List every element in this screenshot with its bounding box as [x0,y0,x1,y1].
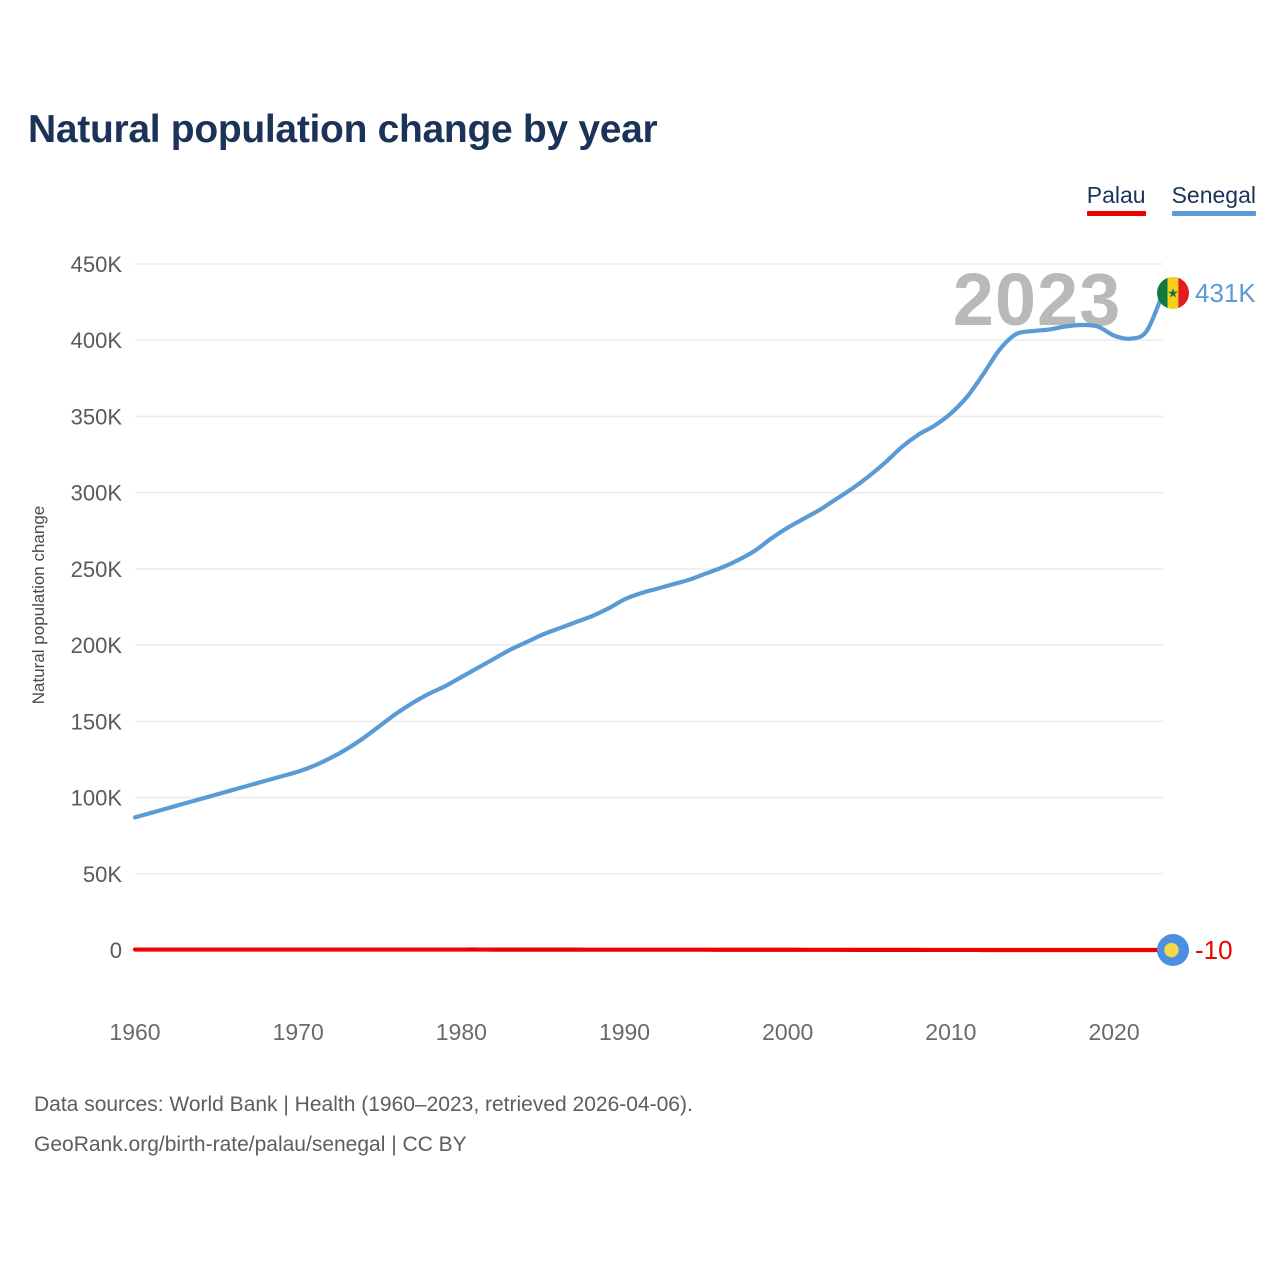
star-icon: ★ [1167,285,1179,300]
y-tick-label: 300K [71,481,123,506]
gridlines [135,264,1163,874]
y-tick-label: 450K [71,252,123,277]
x-axis-tick-labels: 1960197019801990200020102020 [109,1019,1139,1045]
x-tick-label: 2010 [925,1019,976,1045]
x-tick-label: 2000 [762,1019,813,1045]
footer-line-2[interactable]: GeoRank.org/birth-rate/palau/senegal | C… [34,1125,693,1165]
y-axis-tick-labels: 050K100K150K200K250K300K350K400K450K [71,252,123,963]
y-tick-label: 250K [71,557,123,582]
y-tick-label: 100K [71,786,123,811]
y-tick-label: 0 [110,938,122,963]
x-tick-label: 1960 [109,1019,160,1045]
senegal-flag-icon[interactable]: ★ [1157,277,1189,309]
moon-icon [1164,943,1178,957]
series-line-senegal [135,293,1163,817]
y-tick-label: 350K [71,404,123,429]
y-tick-label: 150K [71,709,123,734]
senegal-value-label: 431K [1195,278,1256,308]
palau-value-label: -10 [1195,935,1233,965]
x-tick-label: 1970 [273,1019,324,1045]
x-tick-label: 1980 [436,1019,487,1045]
flag-band [1178,277,1189,309]
y-tick-label: 400K [71,328,123,353]
footer-line-1: Data sources: World Bank | Health (1960–… [34,1085,693,1125]
y-tick-label: 200K [71,633,123,658]
y-tick-label: 50K [83,862,122,887]
x-tick-label: 1990 [599,1019,650,1045]
y-axis-title: Natural population change [29,506,48,704]
footer-credits: Data sources: World Bank | Health (1960–… [34,1085,693,1165]
palau-flag-icon[interactable] [1157,934,1189,966]
x-tick-label: 2020 [1088,1019,1139,1045]
chart-page: Natural population change by year Palau … [0,0,1280,1280]
